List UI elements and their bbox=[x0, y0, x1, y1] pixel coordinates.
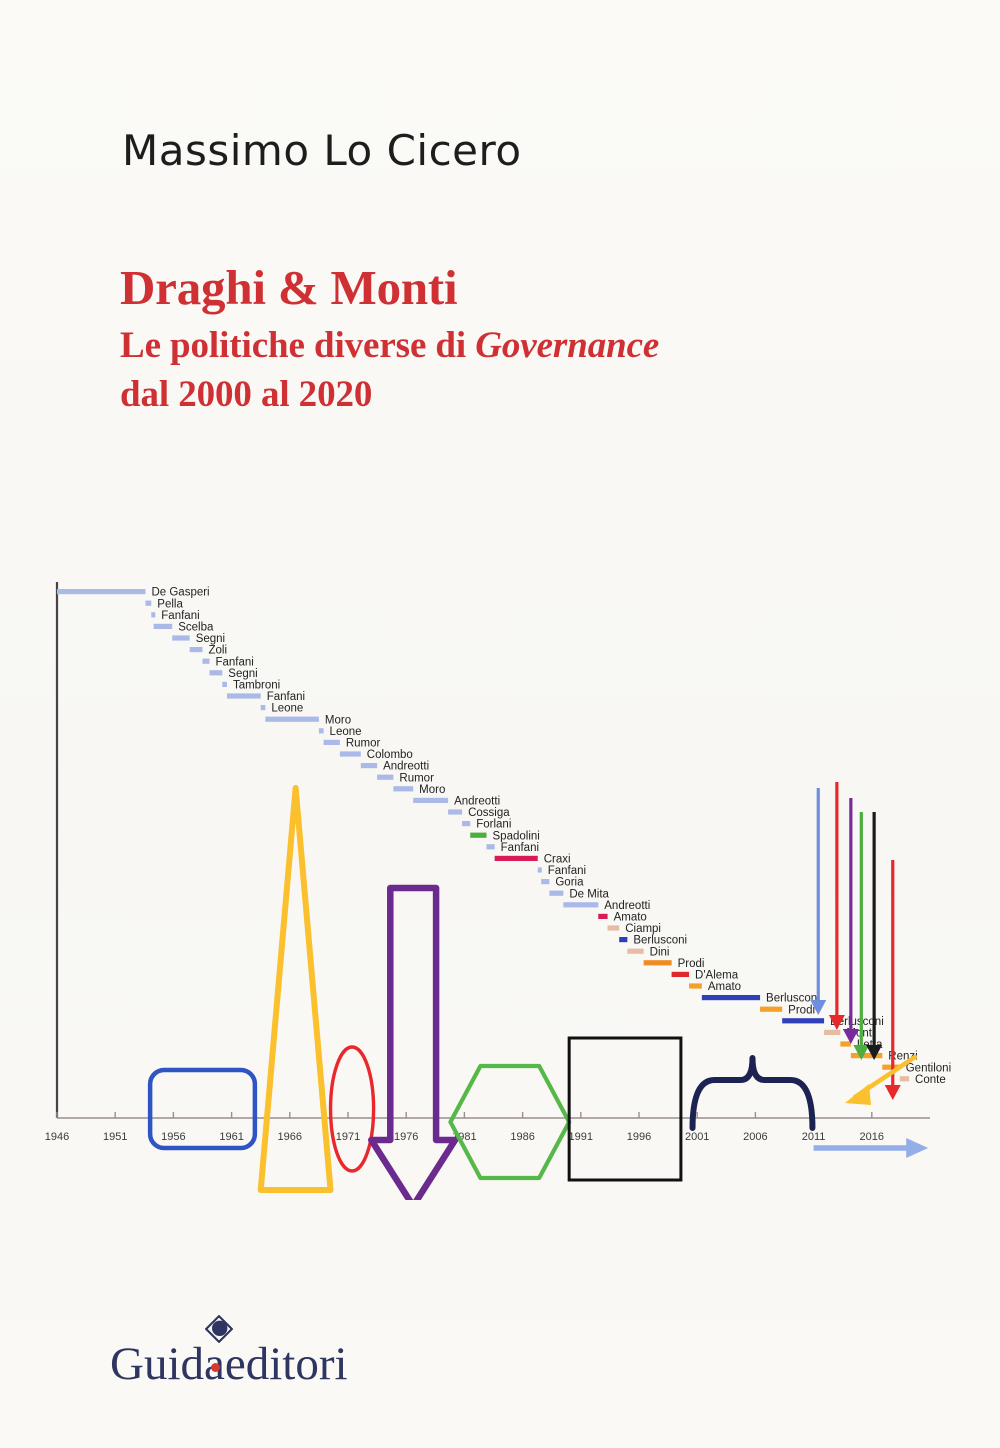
timeline-bar-label: Moro bbox=[325, 714, 351, 726]
timeline-bar bbox=[782, 1018, 824, 1023]
book-cover: Massimo Lo Cicero Draghi & Monti Le poli… bbox=[0, 0, 1000, 1448]
governments-timeline-chart: 1946195119561961196619711976198119861991… bbox=[0, 560, 1000, 1200]
timeline-bar-label: Zoli bbox=[209, 645, 228, 657]
timeline-bar-label: Spadolini bbox=[493, 830, 540, 842]
timeline-bar bbox=[851, 1053, 882, 1058]
timeline-bar-label: Fanfani bbox=[548, 865, 586, 877]
timeline-bar bbox=[462, 821, 470, 826]
timeline-bar-label: Amato bbox=[614, 912, 647, 924]
timeline-bar-label: Prodi bbox=[678, 958, 705, 970]
annotation-square bbox=[569, 1038, 681, 1180]
x-axis-tick-label: 2001 bbox=[685, 1131, 709, 1143]
x-axis-tick-label: 1996 bbox=[627, 1131, 651, 1143]
timeline-bar-label: Rumor bbox=[346, 738, 381, 750]
x-axis-tick-label: 1966 bbox=[278, 1131, 302, 1143]
timeline-bar bbox=[145, 601, 151, 606]
timeline-bar bbox=[672, 972, 689, 977]
x-axis-ticks bbox=[57, 1112, 872, 1118]
timeline-bar-label: Ciampi bbox=[625, 923, 661, 935]
timeline-bar-label: Scelba bbox=[178, 622, 214, 634]
timeline-bar-label: De Mita bbox=[569, 888, 609, 900]
timeline-bar-label: Andreotti bbox=[604, 900, 650, 912]
publisher-name-part2: editori bbox=[225, 1338, 348, 1390]
timeline-bar-label: Dini bbox=[650, 946, 670, 958]
book-subtitle-line2: dal 2000 al 2020 bbox=[120, 371, 900, 420]
timeline-bar bbox=[563, 902, 598, 907]
diamond-circle-icon bbox=[205, 1315, 233, 1343]
timeline-bar bbox=[702, 995, 760, 1000]
publisher-name-part1: Guida bbox=[110, 1338, 225, 1390]
timeline-bar bbox=[470, 833, 486, 838]
timeline-bar bbox=[222, 682, 227, 687]
annotation-diagonal-arrow-head bbox=[845, 1084, 871, 1105]
timeline-bar-label: Fanfani bbox=[161, 610, 199, 622]
timeline-bar-label: Moro bbox=[419, 784, 445, 796]
timeline-bar bbox=[619, 937, 627, 942]
timeline-bar-label: Prodi bbox=[788, 1004, 815, 1016]
timeline-bar-label: Berlusconi bbox=[633, 935, 687, 947]
timeline-bar-label: Fanfani bbox=[267, 691, 305, 703]
timeline-bar bbox=[538, 867, 542, 872]
timeline-bar-label: Rumor bbox=[399, 772, 434, 784]
timeline-bar bbox=[227, 693, 261, 698]
annotation-triangle bbox=[261, 788, 331, 1190]
timeline-bar-label: Fanfani bbox=[215, 656, 253, 668]
chart-bars bbox=[57, 589, 909, 1081]
timeline-bar-label: Andreotti bbox=[454, 796, 500, 808]
timeline-bar bbox=[824, 1030, 840, 1035]
author-name: Massimo Lo Cicero bbox=[122, 126, 522, 175]
book-title: Draghi & Monti bbox=[120, 262, 900, 314]
timeline-bar-label: Colombo bbox=[367, 749, 413, 761]
publisher-red-dot bbox=[211, 1363, 220, 1372]
timeline-bar-label: Forlani bbox=[476, 819, 511, 831]
timeline-bar bbox=[377, 775, 393, 780]
timeline-bar-label: Goria bbox=[555, 877, 584, 889]
chart-bar-labels: De GasperiPellaFanfaniScelbaSegniZoliFan… bbox=[151, 587, 951, 1086]
annotation-ellipse bbox=[331, 1047, 374, 1171]
timeline-bar bbox=[627, 949, 643, 954]
x-axis-tick-label: 1961 bbox=[219, 1131, 243, 1143]
timeline-bar bbox=[340, 751, 361, 756]
timeline-bar-label: Cossiga bbox=[468, 807, 510, 819]
x-axis-tick-label: 1991 bbox=[569, 1131, 593, 1143]
x-axis-tick-label: 2011 bbox=[802, 1131, 826, 1143]
annotation-horizontal-arrow-head bbox=[906, 1138, 928, 1158]
annotation-down-arrow bbox=[371, 888, 455, 1200]
timeline-bar bbox=[209, 670, 222, 675]
timeline-bar bbox=[154, 624, 173, 629]
timeline-bar bbox=[265, 717, 319, 722]
timeline-bar bbox=[413, 798, 448, 803]
x-axis-tick-label: 1986 bbox=[510, 1131, 534, 1143]
timeline-bar-label: Conte bbox=[915, 1074, 946, 1086]
timeline-bar bbox=[448, 809, 462, 814]
subtitle-text: Le politiche diverse di bbox=[120, 325, 475, 366]
timeline-bar-label: Berlusconi bbox=[766, 993, 820, 1005]
timeline-bar bbox=[361, 763, 377, 768]
timeline-bar-label: Tambroni bbox=[233, 680, 280, 692]
timeline-bar bbox=[261, 705, 266, 710]
x-axis-tick-label: 1951 bbox=[103, 1131, 127, 1143]
timeline-bar bbox=[203, 659, 210, 664]
x-axis-tick-label: 1971 bbox=[336, 1131, 360, 1143]
timeline-bar bbox=[549, 891, 563, 896]
timeline-bar bbox=[151, 612, 155, 617]
timeline-bar bbox=[319, 728, 324, 733]
timeline-bar bbox=[900, 1076, 909, 1081]
timeline-bar bbox=[689, 983, 702, 988]
publisher-wordmark: Guidaeditori bbox=[110, 1337, 348, 1391]
timeline-bar-label: Amato bbox=[708, 981, 741, 993]
timeline-bar bbox=[541, 879, 549, 884]
timeline-bar bbox=[57, 589, 145, 594]
chart-svg: 1946195119561961196619711976198119861991… bbox=[0, 560, 1000, 1200]
x-axis-tick-label: 1946 bbox=[45, 1131, 69, 1143]
timeline-bar-label: D'Alema bbox=[695, 970, 739, 982]
timeline-bar bbox=[172, 635, 189, 640]
timeline-bar-label: Gentiloni bbox=[906, 1062, 951, 1074]
title-block: Draghi & Monti Le politiche diverse di G… bbox=[120, 262, 900, 420]
x-axis-tick-label: 1976 bbox=[394, 1131, 418, 1143]
timeline-bar-label: Craxi bbox=[544, 854, 571, 866]
timeline-bar-label: Leone bbox=[330, 726, 362, 738]
timeline-bar-label: Segni bbox=[196, 633, 225, 645]
timeline-bar-label: De Gasperi bbox=[151, 587, 209, 599]
timeline-bar bbox=[840, 1041, 850, 1046]
timeline-bar bbox=[598, 914, 607, 919]
subtitle-italic-word: Governance bbox=[475, 325, 659, 366]
timeline-bar-label: Leone bbox=[271, 703, 303, 715]
annotation-hexagon bbox=[450, 1066, 569, 1178]
book-subtitle-line1: Le politiche diverse di Governance bbox=[120, 322, 900, 371]
x-axis-tick-label: 2016 bbox=[860, 1131, 884, 1143]
timeline-bar bbox=[324, 740, 340, 745]
annotation-vertical-arrow-red-2-head bbox=[885, 1085, 901, 1100]
timeline-bar bbox=[190, 647, 203, 652]
timeline-bar bbox=[393, 786, 413, 791]
timeline-bar-label: Andreotti bbox=[383, 761, 429, 773]
timeline-bar bbox=[644, 960, 672, 965]
timeline-bar bbox=[760, 1007, 782, 1012]
x-axis-tick-label: 1956 bbox=[161, 1131, 185, 1143]
publisher-logo: Guidaeditori bbox=[110, 1337, 348, 1391]
timeline-bar-label: Pella bbox=[157, 598, 183, 610]
timeline-bar bbox=[608, 925, 620, 930]
x-axis-tick-labels: 1946195119561961196619711976198119861991… bbox=[45, 1131, 884, 1143]
timeline-bar-label: Segni bbox=[228, 668, 257, 680]
timeline-bar bbox=[495, 856, 538, 861]
timeline-bar bbox=[487, 844, 495, 849]
x-axis-tick-label: 2006 bbox=[743, 1131, 767, 1143]
timeline-bar-label: Fanfani bbox=[501, 842, 539, 854]
